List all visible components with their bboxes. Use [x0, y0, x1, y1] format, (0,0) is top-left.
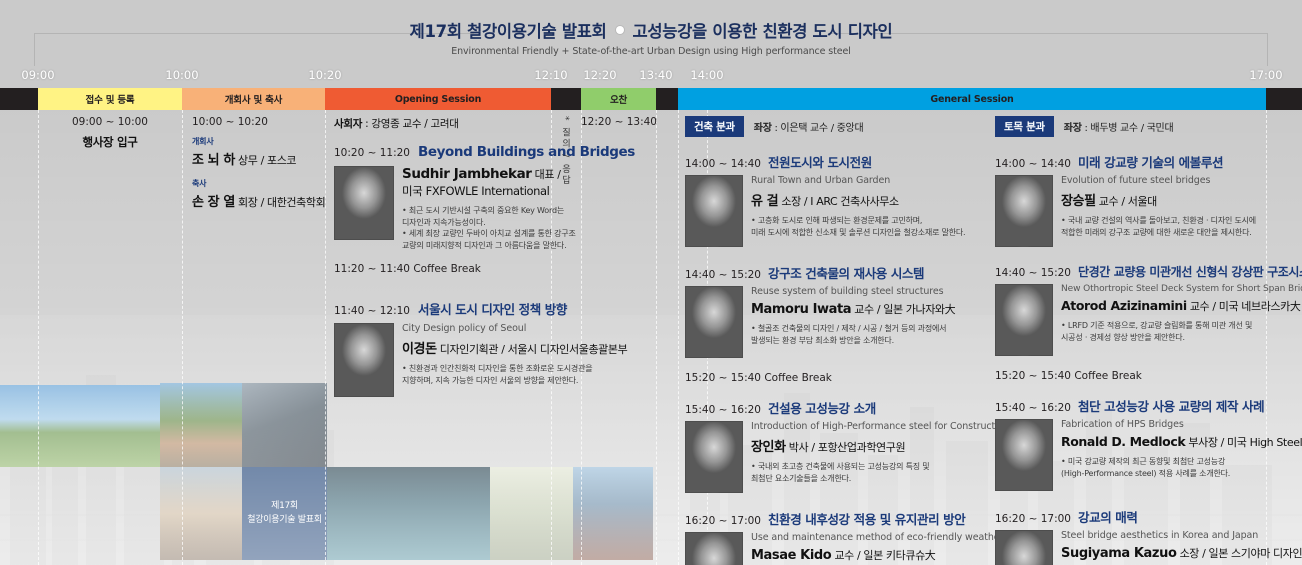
opening-talk-1-org: 미국 FXFOWLE International: [402, 183, 576, 199]
architecture-coffee-break: 15:20 ~ 15:40 Coffee Break: [685, 372, 990, 384]
timeline-bar: 접수 및 등록개회사 및 축사Opening Session오찬General …: [0, 88, 1302, 110]
timeline-segment[interactable]: General Session: [678, 88, 1266, 110]
civil-talk-1: 14:00 ~ 14:40 미래 강교량 기술의 에볼루션 Evolution …: [995, 152, 1302, 247]
timeline-label: 13:40: [639, 68, 672, 82]
opening-talk-2-title: 서울시 도시 디자인 정책 방향: [418, 299, 567, 318]
poster-line-1: 제17회: [271, 500, 298, 514]
timeline-gridline: [182, 110, 183, 565]
collage-bicycles: [242, 383, 327, 467]
lunch-time: 12:20 ~ 13:40: [581, 116, 656, 128]
talk-title-kr: 강구조 건축물의 재사용 시스템: [768, 263, 924, 282]
speaker-photo: [334, 166, 394, 240]
talk-speaker: Sugiyama Kazuo 소장 / 일본 스기야마 디자인 연구소: [1061, 545, 1302, 561]
conference-program-poster: 제17회 철강이용기술 발표회 제17회 철강이용기술 발표회고성능강을 이용한…: [0, 0, 1302, 565]
talk-title-en: Introduction of High-Performance steel f…: [751, 421, 1009, 432]
timeline-label: 12:10: [534, 68, 567, 82]
talk-title-kr: 첨단 고성능강 사용 교량의 제작 사례: [1078, 396, 1264, 415]
ceremony-role-2: 축사: [192, 178, 322, 189]
talk-title-en: New Othortropic Steel Deck System for Sh…: [1061, 284, 1302, 294]
timeline-label: 14:00: [690, 68, 723, 82]
speaker-photo: [334, 323, 394, 397]
talk-title-kr: 건설용 고성능강 소개: [768, 398, 876, 417]
ceremony-speaker-2: 손 장 열 회장 / 대한건축학회: [192, 191, 322, 210]
timeline-label: 10:20: [308, 68, 341, 82]
opening-moderator: 사회자 : 강영종 교수 / 고려대: [334, 116, 546, 131]
opening-talk-2: 11:40 ~ 12:10 서울시 도시 디자인 정책 방향 City Desi…: [334, 299, 614, 397]
talk-bullets: • LRFD 기준 적용으로, 강교량 슬림화를 통해 미관 개선 및 시공성 …: [1061, 320, 1302, 343]
collage-street: [160, 467, 242, 560]
talk-bullets: • 미국 강교량 제작의 최근 동향및 최첨단 고성능강 (High-Perfo…: [1061, 456, 1302, 479]
timeline-segment[interactable]: 개회사 및 축사: [182, 88, 325, 110]
opening-talk-2-en-title: City Design policy of Seoul: [402, 323, 627, 334]
talk-speaker: Mamoru Iwata 교수 / 일본 가나자와大: [751, 301, 955, 317]
timeline-gridline: [38, 110, 39, 565]
talk-title-kr: 전원도시와 도시전원: [768, 152, 872, 171]
talk-time: 14:00 ~ 14:40: [995, 158, 1071, 170]
talk-bullets: • 국내 교량 건설의 역사를 돌아보고, 친환경 · 디자인 도시에 적합한 …: [1061, 215, 1256, 238]
talk-speaker: 장인화 박사 / 포항산업과학연구원: [751, 436, 1009, 455]
opening-talk-1-time: 10:20 ~ 11:20: [334, 147, 410, 159]
speaker-photo: [995, 419, 1053, 491]
talk-title-en: Fabrication of HPS Bridges: [1061, 419, 1302, 430]
talk-title-en: Steel bridge aesthetics in Korea and Jap…: [1061, 530, 1302, 541]
opening-talk-2-bullets: • 친환경과 인간친화적 디자인을 통한 조화로운 도시경관을 지향하며, 지속…: [402, 363, 627, 386]
collage-pavilion: [490, 467, 573, 560]
qa-note: * 질의 / 응답: [556, 116, 572, 186]
registration-place: 행사장 입구: [38, 134, 182, 150]
talk-speaker: Atorod Azizinamini 교수 / 미국 네브라스카大: [1061, 298, 1302, 314]
civil-talk-3: 15:40 ~ 16:20 첨단 고성능강 사용 교량의 제작 사례 Fabri…: [995, 396, 1302, 491]
poster-header: 제17회 철강이용기술 발표회고성능강을 이용한 친환경 도시 디자인 Envi…: [0, 0, 1302, 66]
architecture-talk-4: 16:20 ~ 17:00 친환경 내후성강 적용 및 유지관리 방안 Use …: [685, 509, 990, 565]
architecture-chair: 좌장 : 이은택 교수 / 중앙대: [754, 119, 864, 134]
talk-time: 14:00 ~ 14:40: [685, 158, 761, 170]
column-opening-session: 사회자 : 강영종 교수 / 고려대 10:20 ~ 11:20 Beyond …: [334, 116, 546, 397]
talk-bullets: • 국내외 초고층 건축물에 사용되는 고성능강의 특징 및 최첨단 요소기술들…: [751, 461, 1009, 484]
opening-talk-2-time: 11:40 ~ 12:10: [334, 305, 410, 317]
collage-skyscrapers: [573, 467, 653, 560]
timeline-segment[interactable]: Opening Session: [325, 88, 551, 110]
collage-windfarm: [0, 385, 160, 467]
speaker-photo: [995, 530, 1053, 565]
talk-time: 16:20 ~ 17:00: [685, 515, 761, 527]
speaker-photo: [685, 175, 743, 247]
civil-coffee-break: 15:20 ~ 15:40 Coffee Break: [995, 370, 1302, 382]
architecture-talk-3: 15:40 ~ 16:20 건설용 고성능강 소개 Introduction o…: [685, 398, 990, 493]
ceremony-time: 10:00 ~ 10:20: [192, 116, 322, 128]
collage-bridge-night: [327, 467, 490, 560]
column-architecture-track: 건축 분과 좌장 : 이은택 교수 / 중앙대 14:00 ~ 14:40 전원…: [685, 116, 990, 565]
architecture-talk-1: 14:00 ~ 14:40 전원도시와 도시전원 Rural Town and …: [685, 152, 990, 247]
civil-talk-4: 16:20 ~ 17:00 강교의 매력 Steel bridge aesthe…: [995, 507, 1302, 565]
column-lunch: 12:20 ~ 13:40: [581, 116, 656, 128]
page-title: 제17회 철강이용기술 발표회고성능강을 이용한 친환경 도시 디자인 Envi…: [0, 18, 1302, 57]
page-subtitle: Environmental Friendly + State-of-the-ar…: [0, 46, 1302, 57]
civil-talk-2: 14:40 ~ 15:20 단경간 교량용 미관개선 신형식 강상판 구조시스템…: [995, 263, 1302, 356]
speaker-photo: [685, 421, 743, 493]
column-registration: 09:00 ~ 10:00 행사장 입구: [38, 116, 182, 150]
timeline-segment[interactable]: 오찬: [581, 88, 656, 110]
timeline-label: 12:20: [583, 68, 616, 82]
ceremony-speaker-1: 조 뇌 하 상무 / 포스코: [192, 149, 322, 168]
opening-talk-1-bullets: • 최근 도시 기반시설 구축의 중요한 Key Word는 디자인과 지속가능…: [402, 205, 576, 251]
talk-title-kr: 친환경 내후성강 적용 및 유지관리 방안: [768, 509, 965, 528]
talk-time: 15:40 ~ 16:20: [685, 404, 761, 416]
timeline-labels: 09:0010:0010:2012:1012:2013:4014:0017:00: [0, 68, 1302, 86]
speaker-photo: [995, 175, 1053, 247]
column-opening-ceremony: 10:00 ~ 10:20 개회사 조 뇌 하 상무 / 포스코 축사 손 장 …: [192, 116, 322, 210]
talk-time: 16:20 ~ 17:00: [995, 513, 1071, 525]
registration-time: 09:00 ~ 10:00: [38, 116, 182, 128]
timeline-label: 10:00: [165, 68, 198, 82]
timeline-segment[interactable]: 접수 및 등록: [38, 88, 182, 110]
opening-talk-2-speaker: 이경돈 디자인기획관 / 서울시 디자인서울총괄본부: [402, 338, 627, 357]
civil-badge: 토목 분과: [995, 116, 1054, 137]
architecture-talk-2: 14:40 ~ 15:20 강구조 건축물의 재사용 시스템 Reuse sys…: [685, 263, 990, 358]
talk-title-kr: 단경간 교량용 미관개선 신형식 강상판 구조시스템: [1078, 263, 1302, 280]
opening-talk-1: 10:20 ~ 11:20 Beyond Buildings and Bridg…: [334, 144, 546, 251]
timeline-label: 09:00: [21, 68, 54, 82]
collage-village: [160, 383, 242, 467]
talk-title-kr: 미래 강교량 기술의 에볼루션: [1078, 152, 1223, 171]
timeline-label: 17:00: [1249, 68, 1282, 82]
ceremony-role-1: 개회사: [192, 136, 322, 147]
talk-bullets: • 고층화 도시로 인해 파생되는 환경문제를 고민하며, 미래 도시에 적합한…: [751, 215, 965, 238]
talk-title-en: Evolution of future steel bridges: [1061, 175, 1256, 186]
talk-speaker: Ronald D. Medlock 부사장 / 미국 High Steel St…: [1061, 434, 1302, 450]
speaker-photo: [995, 284, 1053, 356]
speaker-photo: [685, 532, 743, 565]
title-part-2: 고성능강을 이용한 친환경 도시 디자인: [633, 22, 893, 41]
talk-title-kr: 강교의 매력: [1078, 507, 1137, 526]
title-part-1: 제17회 철강이용기술 발표회: [410, 22, 607, 41]
civil-chair: 좌장 : 배두병 교수 / 국민대: [1064, 119, 1174, 134]
poster-line-2: 철강이용기술 발표회: [247, 514, 321, 528]
talk-speaker: 유 걸 소장 / I ARC 건축사사무소: [751, 190, 965, 209]
opening-talk-1-speaker: Sudhir Jambhekar 대표 /: [402, 166, 576, 182]
architecture-badge: 건축 분과: [685, 116, 744, 137]
timeline-gridline: [678, 110, 679, 565]
talk-title-en: Rural Town and Urban Garden: [751, 175, 965, 186]
timeline-gridline: [656, 110, 657, 565]
opening-talk-1-title: Beyond Buildings and Bridges: [418, 144, 635, 160]
poster-title-card: 제17회 철강이용기술 발표회: [242, 467, 327, 560]
title-separator-dot-icon: [616, 26, 624, 34]
talk-time: 15:40 ~ 16:20: [995, 402, 1071, 414]
talk-bullets: • 철골조 건축물의 디자인 / 제작 / 시공 / 철거 등의 과정에서 발생…: [751, 323, 955, 346]
talk-title-en: Reuse system of building steel structure…: [751, 286, 955, 297]
opening-coffee-break: 11:20 ~ 11:40 Coffee Break: [334, 263, 546, 275]
talk-time: 14:40 ~ 15:20: [685, 269, 761, 281]
talk-time: 14:40 ~ 15:20: [995, 267, 1071, 279]
speaker-photo: [685, 286, 743, 358]
column-civil-track: 토목 분과 좌장 : 배두병 교수 / 국민대 14:00 ~ 14:40 미래…: [995, 116, 1302, 565]
talk-speaker: 장승필 교수 / 서울대: [1061, 190, 1256, 209]
